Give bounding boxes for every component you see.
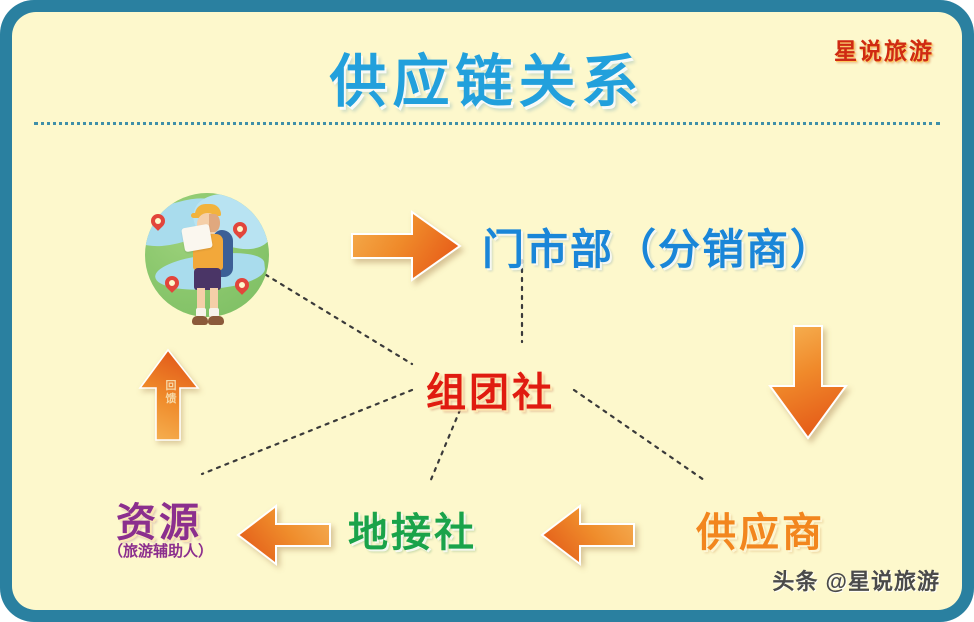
connector-organizer-ground [430,410,460,482]
traveler-globe-illustration [137,190,277,335]
node-label-organizer: 组团社 [426,360,555,418]
node-sublabel-resource: （旅游辅助人） [108,540,213,561]
node-label-supplier: 供应商 [696,500,825,558]
hair-shape [209,214,220,232]
arrow-up-feedback-icon [138,348,202,444]
arrow-left-to-ground-icon [540,504,636,566]
page-title: 供应链关系 [12,36,962,118]
traveler-figure-icon [181,204,237,332]
infographic-frame: 星说旅游 供应链关系 [0,0,974,622]
arrow-left-to-resource-icon [236,504,332,566]
shoe-right [208,316,224,325]
shorts-shape [194,268,221,290]
header-divider [34,122,940,125]
arrow-down-to-supplier-icon [768,324,850,442]
connector-organizer-supplier [574,390,704,480]
connector-organizer-resource [202,390,412,474]
watermark: 头条 @星说旅游 [772,564,940,596]
arrow-right-to-retail-icon [350,208,462,284]
connector-traveler-organizer [258,270,412,364]
shoe-left [192,316,208,325]
map-paper-icon [181,224,213,252]
node-label-ground: 地接社 [348,500,477,558]
infographic-inner-panel: 星说旅游 供应链关系 [12,12,962,610]
node-label-retail: 门市部（分销商） [482,216,834,277]
